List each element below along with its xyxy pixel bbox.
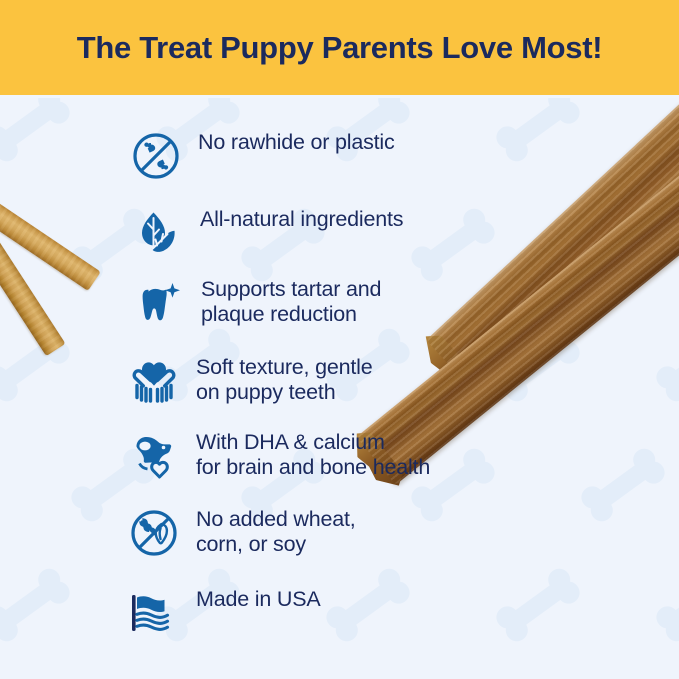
benefit-row: With DHA & calcium for brain and bone he… bbox=[126, 428, 430, 484]
benefit-text: All-natural ingredients bbox=[200, 205, 403, 232]
header-banner: The Treat Puppy Parents Love Most! bbox=[0, 0, 679, 95]
leaf-icon bbox=[130, 205, 186, 261]
no-grain-icon bbox=[126, 505, 182, 561]
benefit-row: Soft texture, gentle on puppy teeth bbox=[126, 353, 372, 409]
benefit-text: Supports tartar and plaque reduction bbox=[201, 275, 381, 327]
header-divider bbox=[0, 95, 679, 98]
dog-heart-icon bbox=[126, 428, 182, 484]
benefit-row: All-natural ingredients bbox=[130, 205, 403, 261]
sparkling-tooth-icon bbox=[131, 275, 187, 331]
product-infographic: The Treat Puppy Parents Love Most! No ra… bbox=[0, 0, 679, 679]
benefit-text: Made in USA bbox=[196, 585, 320, 612]
usa-flag-icon bbox=[126, 585, 182, 641]
benefit-text: Soft texture, gentle on puppy teeth bbox=[196, 353, 372, 405]
no-rawhide-icon bbox=[128, 128, 184, 184]
benefits-list: No rawhide or plastic All-natural ingred… bbox=[0, 95, 679, 679]
benefit-row: No rawhide or plastic bbox=[128, 128, 395, 184]
page-title: The Treat Puppy Parents Love Most! bbox=[77, 30, 603, 66]
benefit-text: No added wheat, corn, or soy bbox=[196, 505, 356, 557]
benefit-row: Made in USA bbox=[126, 585, 320, 641]
hands-heart-icon bbox=[126, 353, 182, 409]
benefit-row: No added wheat, corn, or soy bbox=[126, 505, 356, 561]
benefit-text: No rawhide or plastic bbox=[198, 128, 395, 155]
benefit-text: With DHA & calcium for brain and bone he… bbox=[196, 428, 430, 480]
benefit-row: Supports tartar and plaque reduction bbox=[131, 275, 381, 331]
